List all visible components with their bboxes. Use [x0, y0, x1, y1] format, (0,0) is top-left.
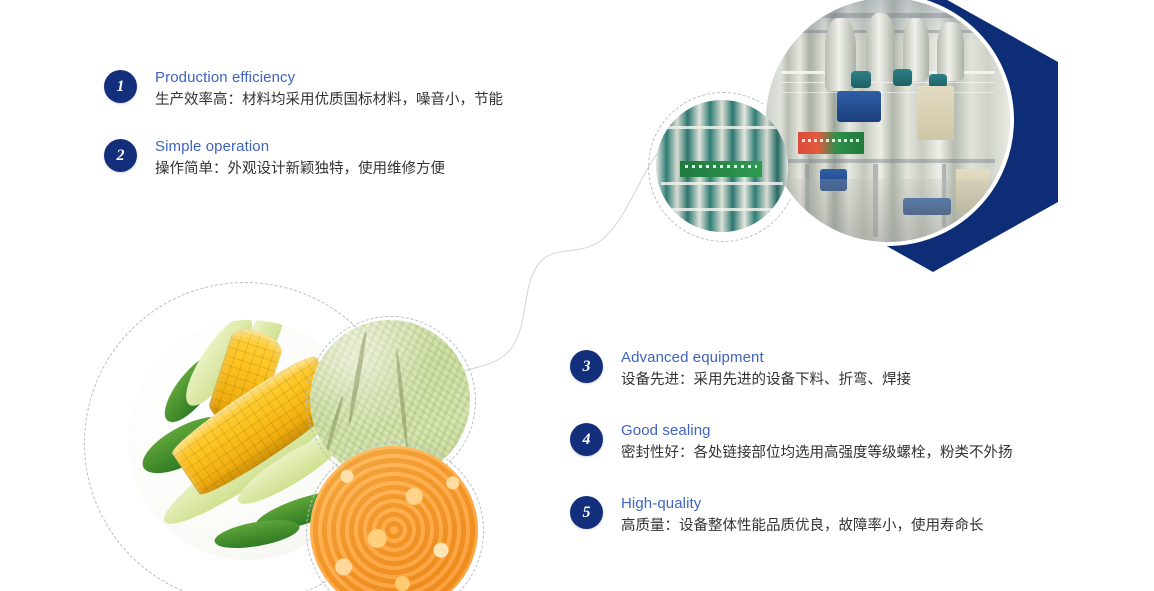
feature-description-5: 高质量：设备整体性能品质优良，故障率小，使用寿命长: [621, 515, 984, 537]
feature-item-5[interactable]: 5 High-quality 高质量：设备整体性能品质优良，故障率小，使用寿命长: [570, 494, 1130, 537]
feature-title-3: Advanced equipment: [621, 348, 911, 368]
feature-list-bottom: 3 Advanced equipment 设备先进：采用先进的设备下料、折弯、焊…: [570, 348, 1130, 567]
feature-item-2[interactable]: 2 Simple operation 操作简单：外观设计新颖独特，使用维修方便: [104, 137, 574, 180]
feature-text-5: High-quality 高质量：设备整体性能品质优良，故障率小，使用寿命长: [621, 494, 984, 537]
feature-description-4: 密封性好：各处链接部位均选用高强度等级螺栓，粉类不外扬: [621, 442, 1013, 464]
flour-milling-plant-photo: [762, 0, 1014, 246]
feature-item-4[interactable]: 4 Good sealing 密封性好：各处链接部位均选用高强度等级螺栓，粉类不…: [570, 421, 1130, 464]
feature-description-2: 操作简单：外观设计新颖独特，使用维修方便: [155, 158, 445, 180]
feature-text-3: Advanced equipment 设备先进：采用先进的设备下料、折弯、焊接: [621, 348, 911, 391]
feature-badge-1: 1: [104, 70, 137, 103]
feature-title-5: High-quality: [621, 494, 984, 514]
feature-badge-4: 4: [570, 423, 603, 456]
feature-text-4: Good sealing 密封性好：各处链接部位均选用高强度等级螺栓，粉类不外扬: [621, 421, 1013, 464]
machinery-photo-cluster: [646, 0, 1154, 277]
feature-badge-3: 3: [570, 350, 603, 383]
feature-list-top: 1 Production efficiency 生产效率高：材料均采用优质国标材…: [104, 68, 574, 202]
feature-description-3: 设备先进：采用先进的设备下料、折弯、焊接: [621, 369, 911, 391]
feature-title-1: Production efficiency: [155, 68, 503, 88]
feature-badge-2: 2: [104, 139, 137, 172]
feature-title-4: Good sealing: [621, 421, 1013, 441]
feature-title-2: Simple operation: [155, 137, 445, 157]
corn-photo-cluster: [84, 282, 484, 591]
feature-description-1: 生产效率高：材料均采用优质国标材料，噪音小，节能: [155, 89, 503, 111]
feature-text-1: Production efficiency 生产效率高：材料均采用优质国标材料，…: [155, 68, 503, 111]
feature-item-3[interactable]: 3 Advanced equipment 设备先进：采用先进的设备下料、折弯、焊…: [570, 348, 1130, 391]
feature-item-1[interactable]: 1 Production efficiency 生产效率高：材料均采用优质国标材…: [104, 68, 574, 111]
advantages-infographic: 1 Production efficiency 生产效率高：材料均采用优质国标材…: [0, 0, 1154, 591]
feature-text-2: Simple operation 操作简单：外观设计新颖独特，使用维修方便: [155, 137, 445, 180]
feature-badge-5: 5: [570, 496, 603, 529]
green-milling-machinery-photo: [656, 100, 788, 232]
